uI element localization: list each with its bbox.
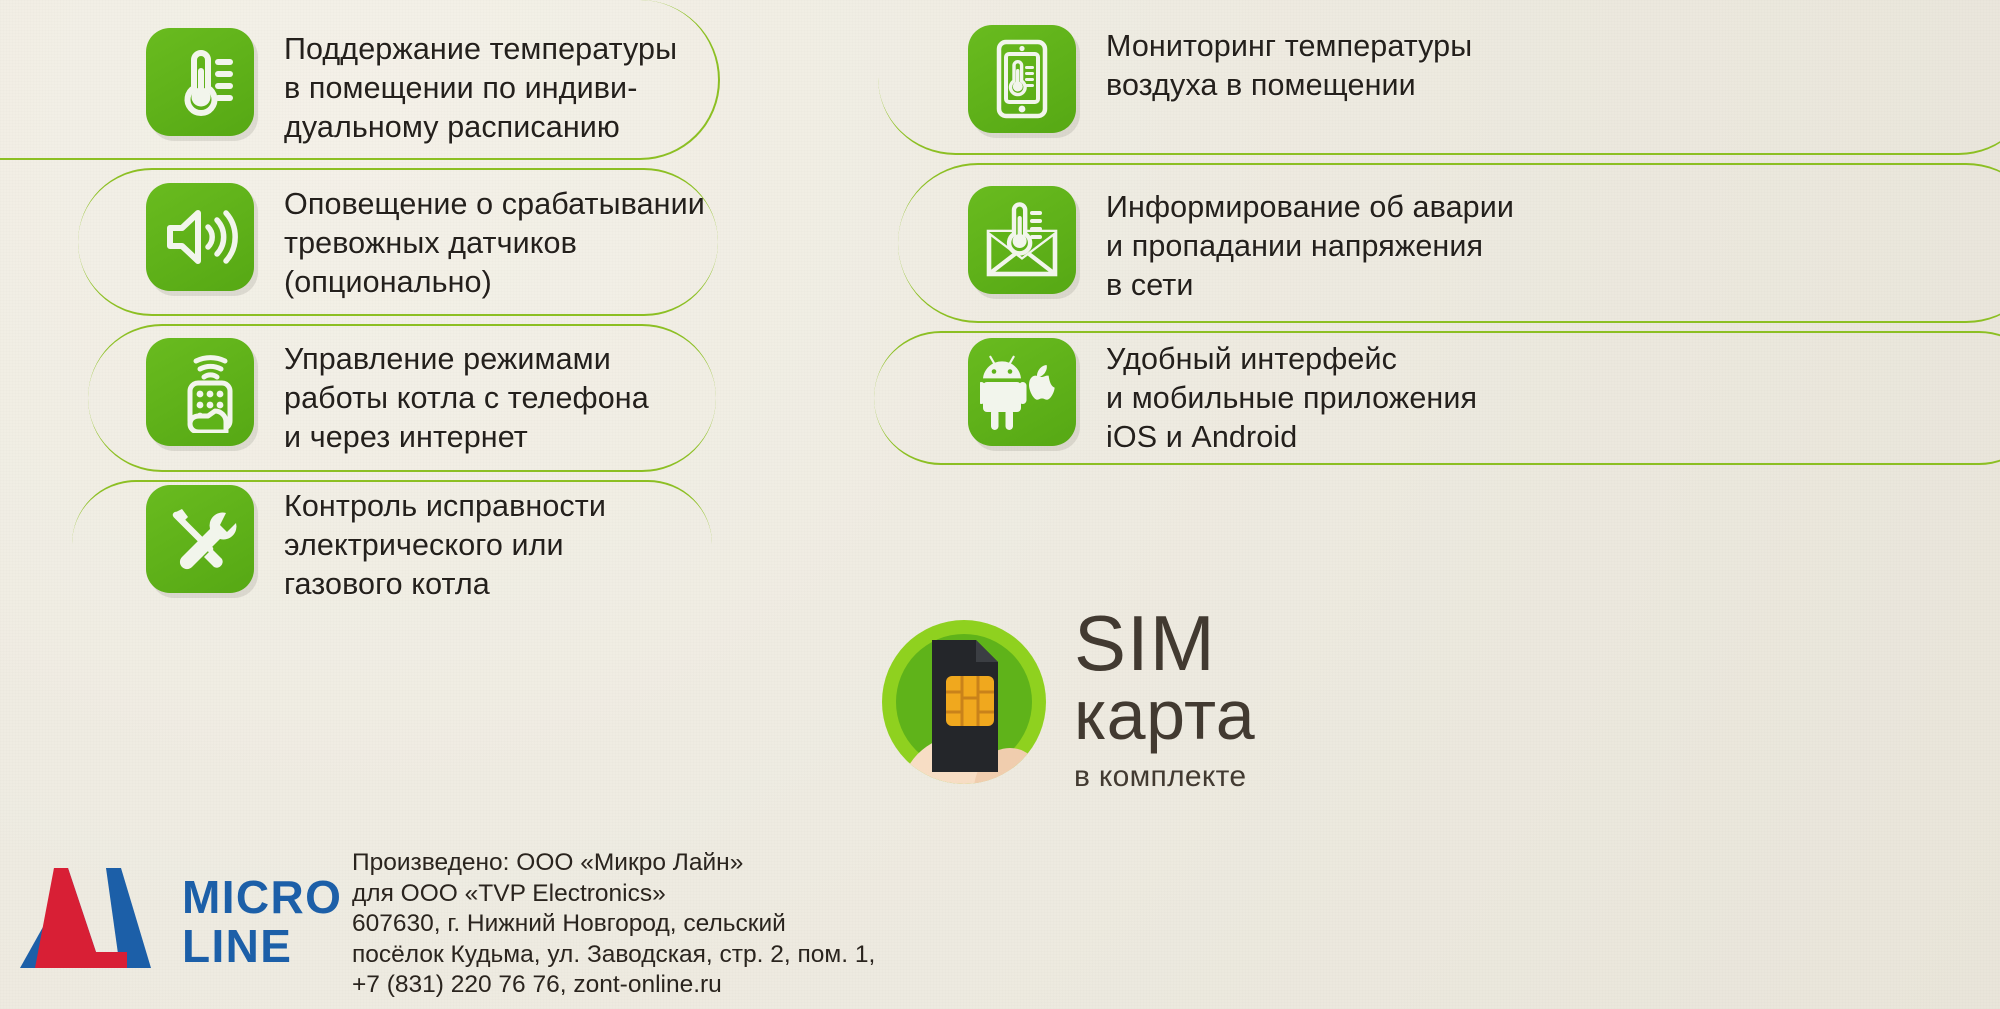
microline-name-line1: MICRO <box>182 873 342 922</box>
feature-right-3-label: Удобный интерфейс и мобильные приложения… <box>1106 338 1477 458</box>
feature-right-1-label: Мониторинг температуры воздуха в помещен… <box>1106 25 1472 105</box>
feature-left-4-label: Контроль исправности электрического или … <box>284 485 606 605</box>
feature-left-1-label: Поддержание температуры в помещении по и… <box>284 28 677 148</box>
feature-right-3: Удобный интерфейс и мобильные приложения… <box>968 338 1477 458</box>
speaker-alert-icon <box>146 183 254 291</box>
sim-note: в комплекте <box>1074 762 1255 792</box>
phone-thermometer-icon <box>968 25 1076 133</box>
sim-text-block: SIM карта в комплекте <box>1074 608 1255 796</box>
microline-logo: MICRO LINE <box>18 862 342 981</box>
feature-right-1: Мониторинг температуры воздуха в помещен… <box>968 25 1472 133</box>
feature-right-2-label: Информирование об аварии и пропадании на… <box>1106 186 1514 306</box>
tools-icon <box>146 485 254 593</box>
manufacturer-info: Произведено: ООО «Микро Лайн» для ООО «T… <box>352 848 875 1001</box>
feature-left-3: Управление режимами работы котла с телеф… <box>146 338 649 458</box>
envelope-thermometer-icon <box>968 186 1076 294</box>
remote-control-icon <box>146 338 254 446</box>
microline-mountain-logo <box>18 862 156 981</box>
feature-left-3-label: Управление режимами работы котла с телеф… <box>284 338 649 458</box>
thermometer-icon <box>146 28 254 136</box>
microline-name-line2: LINE <box>182 922 342 971</box>
feature-left-2-label: Оповещение о срабатывании тревожных датч… <box>284 183 705 303</box>
feature-left-1: Поддержание температуры в помещении по и… <box>146 28 677 148</box>
android-apple-icon <box>968 338 1076 446</box>
feature-left-4: Контроль исправности электрического или … <box>146 485 606 605</box>
sim-subtitle: карта <box>1074 680 1255 750</box>
sim-card-block: SIM карта в комплекте <box>880 608 1255 796</box>
package-panel: Поддержание температуры в помещении по и… <box>0 0 2000 1009</box>
sim-title: SIM <box>1074 608 1255 680</box>
sim-card-in-hand-icon <box>880 618 1048 786</box>
feature-right-2: Информирование об аварии и пропадании на… <box>968 186 1514 306</box>
microline-wordmark: MICRO LINE <box>182 873 342 971</box>
feature-left-2: Оповещение о срабатывании тревожных датч… <box>146 183 705 303</box>
